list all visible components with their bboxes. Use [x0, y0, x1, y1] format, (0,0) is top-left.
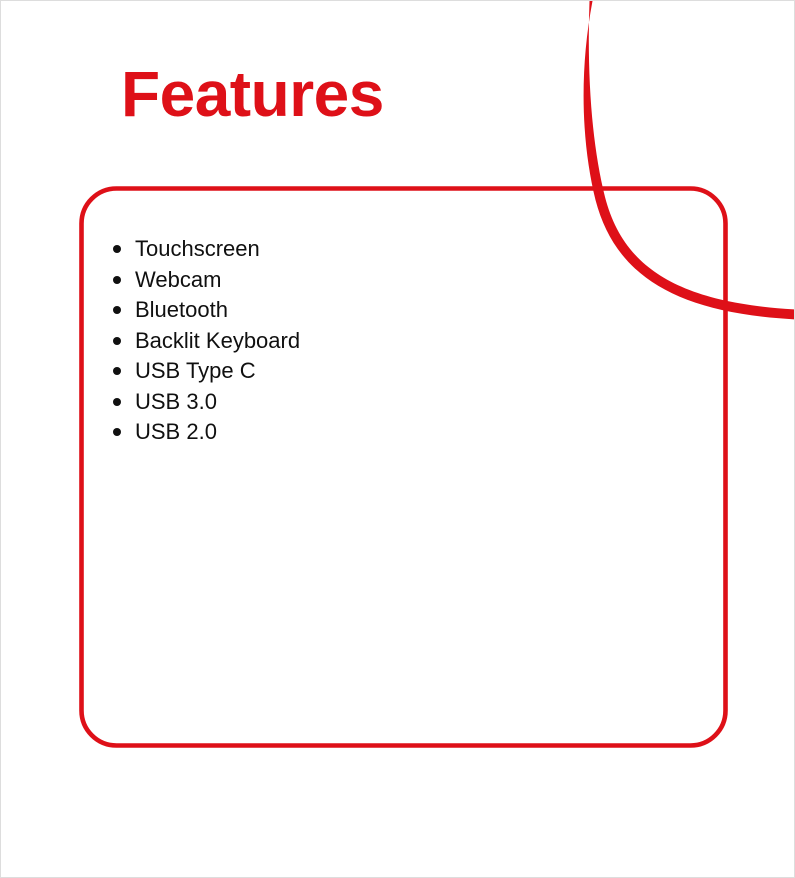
bullet-icon [113, 428, 121, 436]
feature-label: USB 2.0 [135, 419, 217, 444]
list-item: Touchscreen [111, 234, 671, 265]
feature-label: USB Type C [135, 358, 256, 383]
feature-label: Backlit Keyboard [135, 328, 300, 353]
list-item: USB 2.0 [111, 417, 671, 448]
list-item: Backlit Keyboard [111, 326, 671, 357]
list-item: USB 3.0 [111, 387, 671, 418]
bullet-icon [113, 398, 121, 406]
bullet-icon [113, 306, 121, 314]
feature-label: Webcam [135, 267, 221, 292]
feature-label: Touchscreen [135, 236, 260, 261]
feature-label: USB 3.0 [135, 389, 217, 414]
list-item: Webcam [111, 265, 671, 296]
list-item: Bluetooth [111, 295, 671, 326]
bullet-icon [113, 276, 121, 284]
bullet-icon [113, 337, 121, 345]
feature-list: Touchscreen Webcam Bluetooth Backlit Key… [111, 234, 671, 448]
feature-label: Bluetooth [135, 297, 228, 322]
bullet-icon [113, 367, 121, 375]
page-title: Features [121, 58, 384, 130]
list-item: USB Type C [111, 356, 671, 387]
bullet-icon [113, 245, 121, 253]
slide-canvas: Features Touchscreen Webcam Bluetooth Ba… [0, 0, 795, 878]
